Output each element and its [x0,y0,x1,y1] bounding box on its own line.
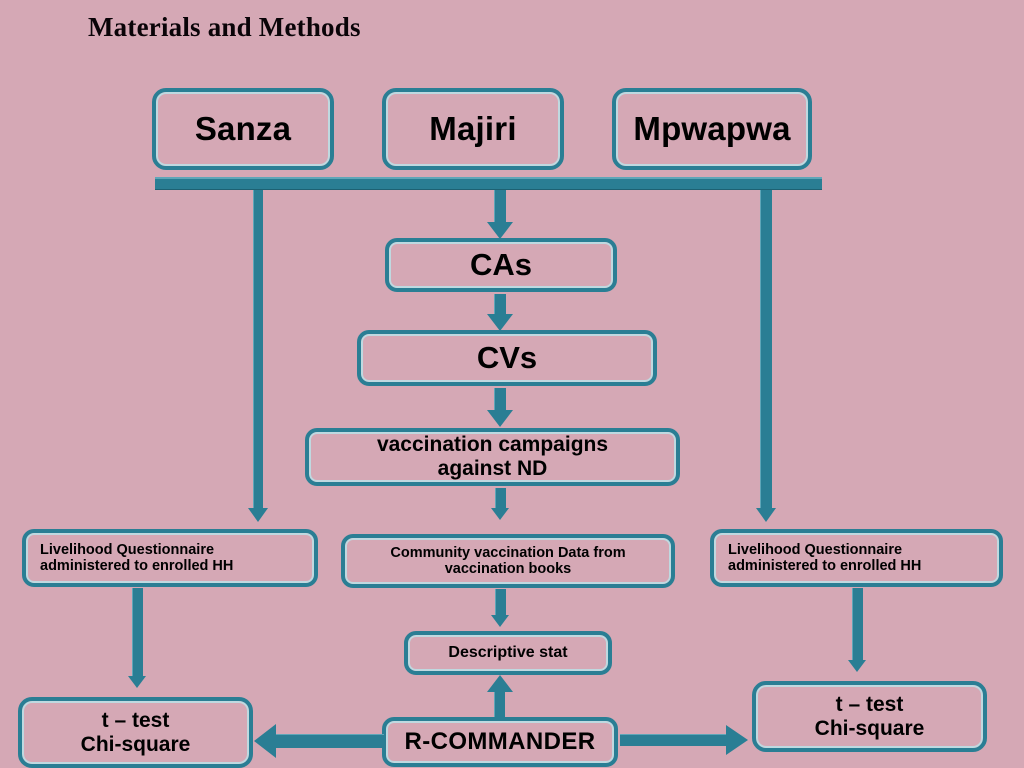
connector-bus-to-livelihood-left [253,190,263,508]
node-cvs[interactable]: CVs [357,330,657,386]
node-livelihood-right-line1: Livelihood Questionnaire [728,542,902,558]
node-sanza-label: Sanza [162,111,324,148]
arrowhead-rcommander-to-ttest-right [726,725,748,755]
node-community-vaccination-data[interactable]: Community vaccination Data from vaccinat… [341,534,675,588]
page-title: Materials and Methods [88,12,361,43]
node-descriptive-stat[interactable]: Descriptive stat [404,631,612,675]
node-majiri-label: Majiri [392,111,554,148]
node-vaccination-campaigns[interactable]: vaccination campaigns against ND [305,428,680,486]
connector-cvs-to-campaigns [494,388,506,410]
arrowhead-bus-to-cas [487,222,513,239]
node-community-data-line2: vaccination books [445,561,572,577]
connector-rcommander-to-descriptive-stat [494,690,505,717]
node-cas[interactable]: CAs [385,238,617,292]
node-ttest-left-line2: Chi-square [81,733,191,756]
slide-canvas: Materials and Methods Sanza Majiri Mpwap… [0,0,1024,768]
node-livelihood-left-line2: administered to enrolled HH [40,558,233,574]
arrowhead-bus-to-livelihood-right [756,508,776,522]
node-ttest-left-line1: t – test [102,709,170,732]
node-r-commander[interactable]: R-COMMANDER [382,717,618,767]
node-livelihood-questionnaire-right[interactable]: Livelihood Questionnaire administered to… [710,529,1003,587]
connector-bus-to-livelihood-right [760,190,772,508]
node-vaccination-campaigns-line1: vaccination campaigns [377,433,608,456]
connector-livelihood-right-to-ttest-right [852,588,863,660]
node-cvs-label: CVs [367,341,647,376]
arrowhead-bus-to-livelihood-left [248,508,268,522]
node-cas-label: CAs [395,248,607,283]
node-livelihood-questionnaire-left[interactable]: Livelihood Questionnaire administered to… [22,529,318,587]
arrowhead-cas-to-cvs [487,314,513,331]
arrowhead-livelihood-right-to-ttest-right [848,660,866,672]
arrowhead-rcommander-to-ttest-left [254,724,276,758]
node-majiri[interactable]: Majiri [382,88,564,170]
node-r-commander-label: R-COMMANDER [392,729,608,756]
node-descriptive-stat-label: Descriptive stat [414,644,602,662]
connector-rcommander-to-ttest-left [276,734,384,748]
arrowhead-community-data-to-descriptive-stat [491,615,509,627]
node-ttest-chisquare-right[interactable]: t – test Chi-square [752,681,987,752]
connector-rcommander-to-ttest-right [620,734,726,746]
node-community-data-line1: Community vaccination Data from [390,545,625,561]
connector-campaigns-to-community-data [495,488,506,508]
node-ttest-chisquare-left[interactable]: t – test Chi-square [18,697,253,768]
connector-bus-to-cas [494,190,506,222]
node-sanza[interactable]: Sanza [152,88,334,170]
arrowhead-campaigns-to-community-data [491,508,509,520]
connector-bus-bar [155,177,822,190]
connector-livelihood-left-to-ttest-left [132,588,143,676]
arrowhead-rcommander-to-descriptive-stat [487,675,513,692]
node-vaccination-campaigns-line2: against ND [438,457,548,480]
connector-cas-to-cvs [494,294,506,314]
node-mpwapwa-label: Mpwapwa [622,111,802,148]
node-livelihood-right-line2: administered to enrolled HH [728,558,921,574]
node-ttest-right-line2: Chi-square [815,717,925,740]
arrowhead-livelihood-left-to-ttest-left [128,676,146,688]
connector-community-data-to-descriptive-stat [495,589,506,615]
node-mpwapwa[interactable]: Mpwapwa [612,88,812,170]
node-ttest-right-line1: t – test [836,693,904,716]
arrowhead-cvs-to-campaigns [487,410,513,427]
node-livelihood-left-line1: Livelihood Questionnaire [40,542,214,558]
